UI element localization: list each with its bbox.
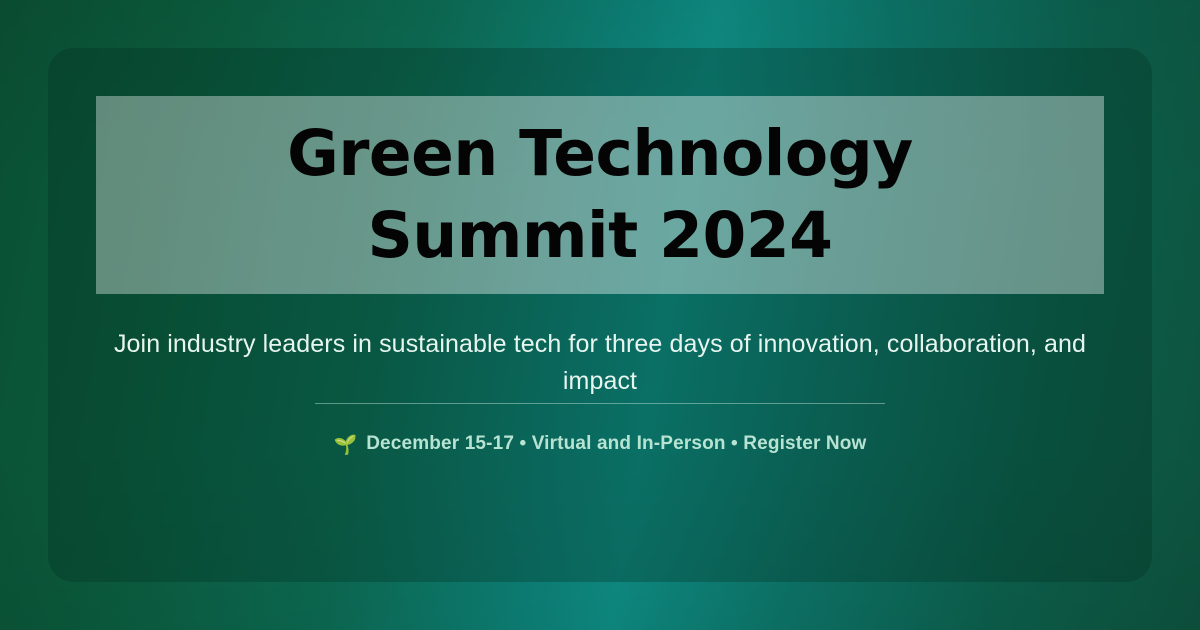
seedling-icon: 🌱	[334, 436, 358, 455]
divider	[315, 403, 885, 404]
hero-subtitle: Join industry leaders in sustainable tec…	[96, 326, 1104, 400]
event-announcement-banner: Green Technology Summit 2024 Join indust…	[0, 0, 1200, 630]
event-meta-text: December 15-17 • Virtual and In-Person •…	[366, 433, 866, 455]
title-highlight-band: Green Technology Summit 2024	[96, 96, 1104, 294]
event-meta-line: 🌱 December 15-17 • Virtual and In-Person…	[96, 433, 1104, 455]
hero-card-content: Green Technology Summit 2024 Join indust…	[48, 48, 1152, 582]
hero-card: Green Technology Summit 2024 Join indust…	[48, 48, 1152, 582]
page-title: Green Technology Summit 2024	[275, 113, 925, 277]
